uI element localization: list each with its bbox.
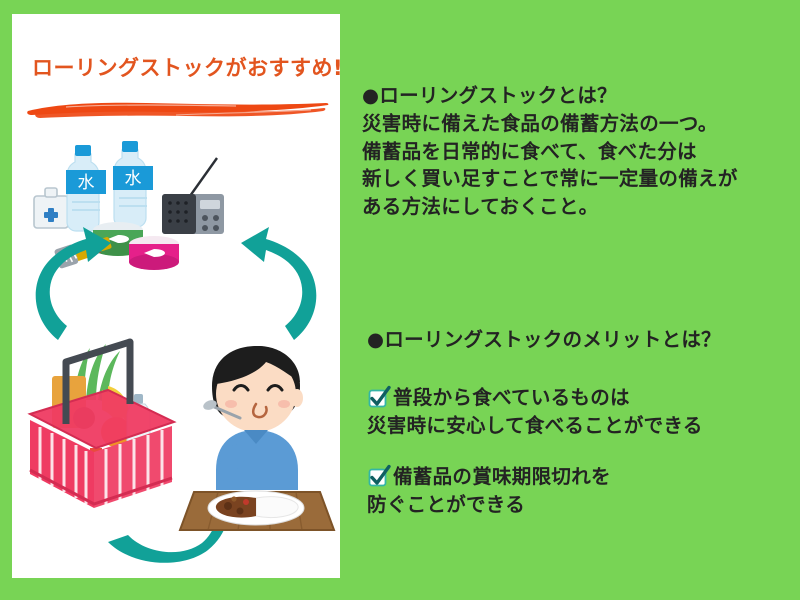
merit-item-2-line-2: 防ぐことができる	[367, 491, 799, 519]
section1-line-3: 新しく買い足すことで常に一定量の備えが	[362, 165, 794, 193]
brush-underline-icon	[26, 98, 331, 120]
poster-root: ローリングストックがおすすめ!	[0, 0, 800, 600]
arrow-right-up-icon	[241, 227, 316, 340]
shopping-basket-illustration	[30, 342, 174, 508]
merit-item-2: 備蓄品の賞味期限切れを 防ぐことができる	[367, 463, 799, 518]
checkbox-checked-icon	[367, 385, 391, 409]
checkbox-checked-icon	[367, 464, 391, 488]
section-rolling-stock-definition: ●ローリングストックとは？ 災害時に備えた食品の備蓄方法の一つ。 備蓄品を日常的…	[362, 82, 794, 220]
svg-text:水: 水	[78, 173, 95, 193]
cycle-diagram: 水 水	[12, 118, 340, 578]
canned-fish-icon-pink	[129, 236, 179, 270]
merit-item-1-line-1: 普段から食べているものは	[393, 384, 630, 412]
section1-heading: ●ローリングストックとは？	[362, 82, 794, 110]
illustration-panel: ローリングストックがおすすめ!	[12, 14, 340, 578]
text-column: ●ローリングストックとは？ 災害時に備えた食品の備蓄方法の一つ。 備蓄品を日常的…	[362, 0, 794, 600]
boy-eating-illustration	[180, 346, 334, 530]
merit-item-2-line-1: 備蓄品の賞味期限切れを	[393, 463, 611, 491]
section1-line-4: ある方法にしておくこと。	[362, 193, 794, 221]
radio-icon	[162, 158, 224, 234]
arrow-left-up-icon	[36, 227, 111, 340]
section1-line-1: 災害時に備えた食品の備蓄方法の一つ。	[362, 110, 794, 138]
hand-icon	[233, 412, 253, 428]
first-aid-kit-icon	[34, 188, 68, 228]
page-title: ローリングストックがおすすめ!	[32, 52, 332, 82]
svg-text:水: 水	[125, 169, 142, 189]
section1-line-2: 備蓄品を日常的に食べて、食べた分は	[362, 138, 794, 166]
water-bottle-icon-1: 水	[66, 145, 106, 231]
merit-item-1-line-2: 災害時に安心して食べることができる	[367, 412, 799, 440]
section-rolling-stock-merits: ●ローリングストックのメリットとは？ 普段から食べているものは 災害時に安心して…	[367, 326, 799, 542]
water-bottle-icon-2: 水	[113, 141, 153, 227]
merit-item-1: 普段から食べているものは 災害時に安心して食べることができる	[367, 384, 799, 439]
section2-heading: ●ローリングストックのメリットとは？	[367, 326, 799, 354]
